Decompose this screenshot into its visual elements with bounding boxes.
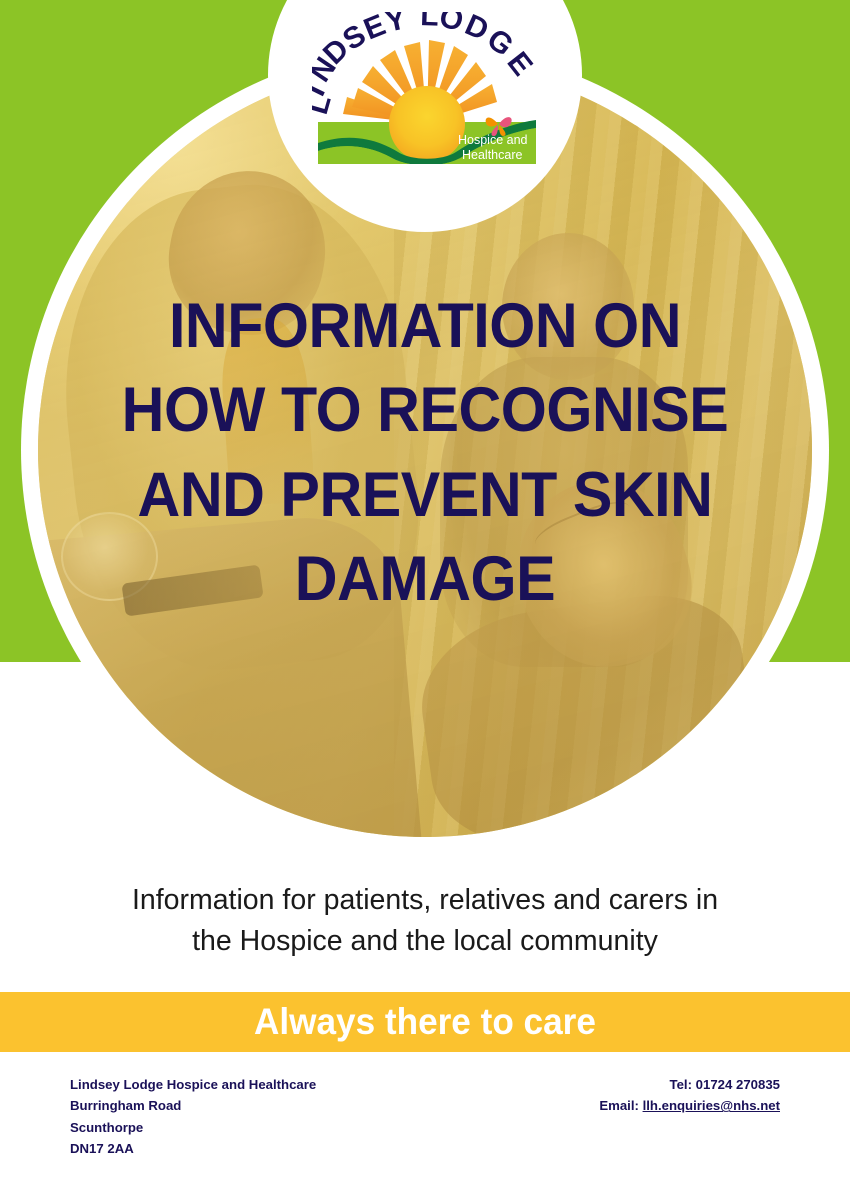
address-line-1: Lindsey Lodge Hospice and Healthcare xyxy=(70,1074,316,1095)
address-line-4: DN17 2AA xyxy=(70,1138,316,1159)
lindsey-lodge-logo: L I N D S E Y L O D G E xyxy=(312,12,542,164)
email-link[interactable]: llh.enquiries@nhs.net xyxy=(643,1098,780,1113)
footer-contact: Tel: 01724 270835 Email: llh.enquiries@n… xyxy=(599,1074,780,1117)
logo-tagline-line2: Healthcare xyxy=(462,148,522,162)
strapline-text: Always there to care xyxy=(254,1001,596,1043)
footer-address: Lindsey Lodge Hospice and Healthcare Bur… xyxy=(70,1074,316,1160)
logo-tagline-line1: Hospice and xyxy=(458,133,528,147)
document-cover-page: L I N D S E Y L O D G E xyxy=(0,0,850,1202)
strapline-band: Always there to care xyxy=(0,992,850,1052)
page-title: INFORMATION ON HOW TO RECOGNISE AND PREV… xyxy=(87,284,764,622)
telephone-number: Tel: 01724 270835 xyxy=(599,1074,780,1095)
address-line-2: Burringham Road xyxy=(70,1095,316,1116)
email-label: Email: xyxy=(599,1098,642,1113)
logo-sun-disc xyxy=(389,86,465,162)
footer: Lindsey Lodge Hospice and Healthcare Bur… xyxy=(0,1074,850,1174)
page-subtitle: Information for patients, relatives and … xyxy=(60,880,790,962)
address-line-3: Scunthorpe xyxy=(70,1117,316,1138)
logo-tagline: Hospice and Healthcare xyxy=(458,133,528,162)
email-line: Email: llh.enquiries@nhs.net xyxy=(599,1095,780,1116)
